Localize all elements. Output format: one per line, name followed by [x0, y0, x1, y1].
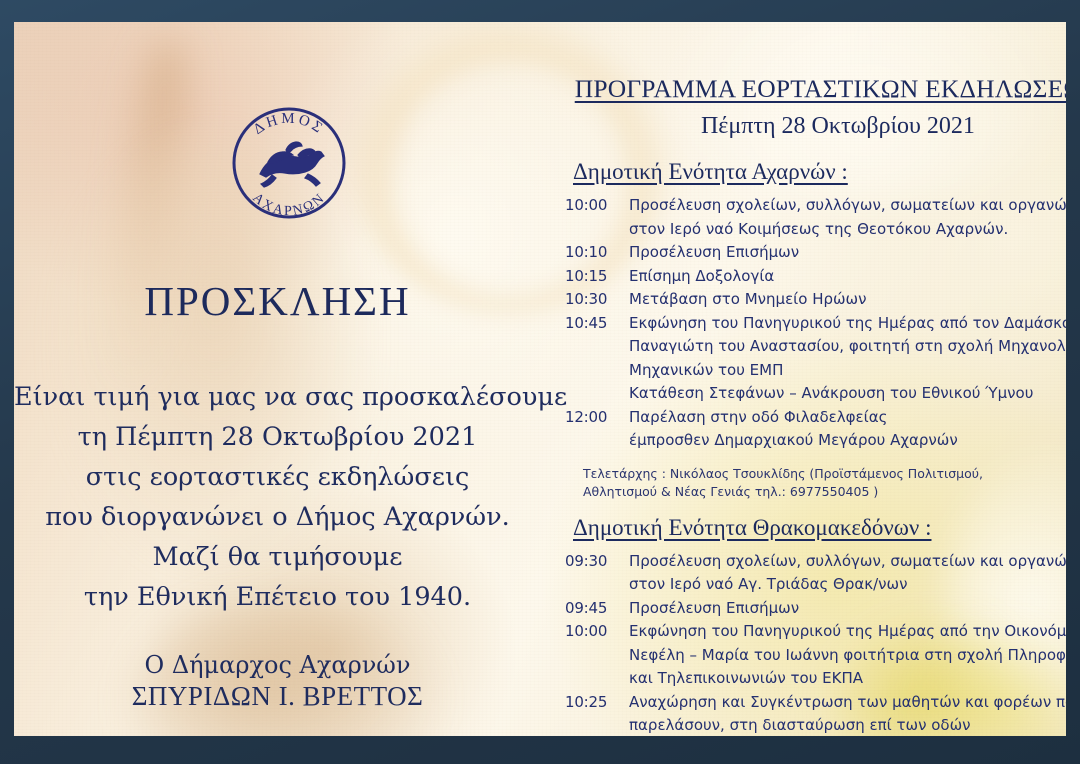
note-line: Τελετάρχης : Νικόλαος Τσουκλίδης (Προϊστ…: [583, 465, 1066, 483]
schedule-time: 09:30: [565, 550, 619, 574]
schedule-row: 10:15 Επίσημη Δοξολογία: [565, 265, 1066, 289]
schedule-description: Εκφώνηση του Πανηγυρικού της Ημέρας από …: [619, 620, 1066, 691]
program-section-acharnes: Δημοτική Ενότητα Αχαρνών : 10:00 Προσέλε…: [559, 140, 1066, 501]
section-heading: Δημοτική Ενότητα Αχαρνών :: [573, 159, 848, 185]
signature-role: Ο Δήμαρχος Αχαρνών: [14, 650, 541, 680]
section-heading: Δημοτική Ενότητα Θρακομακεδόνων :: [573, 515, 931, 541]
schedule-time: 10:00: [565, 620, 619, 644]
schedule-row: 10:45 Εκφώνηση του Πανηγυρικού της Ημέρα…: [565, 312, 1066, 406]
schedule-line: Μηχανικών του ΕΜΠ: [629, 359, 1066, 383]
schedule-line: Προσέλευση Επισήμων: [629, 597, 1066, 621]
signature-block: Ο Δήμαρχος Αχαρνών ΣΠΥΡΙΔΩΝ Ι. ΒΡΕΤΤΟΣ: [14, 650, 541, 712]
schedule-line: Νεφέλη – Μαρία του Ιωάννη φοιτήτρια στη …: [629, 644, 1066, 668]
schedule-line: Μετάβαση στο Μνημείο Ηρώων: [629, 288, 1066, 312]
schedule-description: Προσέλευση Επισήμων: [619, 597, 1066, 621]
schedule-row: 09:30 Προσέλευση σχολείων, συλλόγων, σωμ…: [565, 550, 1066, 597]
schedule-line: Προσέλευση σχολείων, συλλόγων, σωματείων…: [629, 194, 1066, 218]
schedule-description: Αναχώρηση και Συγκέντρωση των μαθητών κα…: [619, 691, 1066, 737]
schedule-description: Επίσημη Δοξολογία: [619, 265, 1066, 289]
municipal-seal-icon: ΔΗΜΟΣ ΑΧΑΡΝΩΝ: [216, 100, 362, 226]
program-title: ΠΡΟΓΡΑΜΜΑ ΕΟΡΤΑΣΤΙΚΩΝ ΕΚΔΗΛΩΣΕΩΝ: [559, 74, 1066, 104]
schedule-row: 10:25 Αναχώρηση και Συγκέντρωση των μαθη…: [565, 691, 1066, 737]
invitation-body-line: τη Πέμπτη 28 Οκτωβρίου 2021: [14, 417, 541, 457]
schedule-row: 10:30 Μετάβαση στο Μνημείο Ηρώων: [565, 288, 1066, 312]
schedule-line: Προσέλευση Επισήμων: [629, 241, 1066, 265]
document-content: ΔΗΜΟΣ ΑΧΑΡΝΩΝ: [14, 22, 1066, 736]
schedule-line: και Τηλεπικοινωνιών του ΕΚΠΑ: [629, 667, 1066, 691]
schedule-description: Μετάβαση στο Μνημείο Ηρώων: [619, 288, 1066, 312]
schedule-row: 10:00 Προσέλευση σχολείων, συλλόγων, σωμ…: [565, 194, 1066, 241]
schedule-time: 10:10: [565, 241, 619, 265]
schedule-line: έμπροσθεν Δημαρχιακού Μεγάρου Αχαρνών: [629, 429, 1066, 453]
schedule-row: 10:10 Προσέλευση Επισήμων: [565, 241, 1066, 265]
program-panel: ΠΡΟΓΡΑΜΜΑ ΕΟΡΤΑΣΤΙΚΩΝ ΕΚΔΗΛΩΣΕΩΝ Πέμπτη …: [541, 22, 1066, 736]
schedule-row: 09:45 Προσέλευση Επισήμων: [565, 597, 1066, 621]
schedule-description: Προσέλευση Επισήμων: [619, 241, 1066, 265]
schedule-time: 12:00: [565, 406, 619, 430]
note-line: Αθλητισμού & Νέας Γενιάς τηλ.: 697755040…: [583, 483, 1066, 501]
signature-name: ΣΠΥΡΙΔΩΝ Ι. ΒΡΕΤΤΟΣ: [14, 680, 541, 712]
svg-text:ΑΧΑΡΝΩΝ: ΑΧΑΡΝΩΝ: [249, 190, 328, 219]
schedule-row: 10:00 Εκφώνηση του Πανηγυρικού της Ημέρα…: [565, 620, 1066, 691]
schedule-time: 10:45: [565, 312, 619, 336]
invitation-body-line: Μαζί θα τιμήσουμε: [14, 537, 541, 577]
schedule-line: Παρέλαση στην οδό Φιλαδελφείας: [629, 406, 1066, 430]
schedule-line: στον Ιερό ναό Αγ. Τριάδας Θρακ/νων: [629, 573, 1066, 597]
schedule-description: Παρέλαση στην οδό Φιλαδελφείας έμπροσθεν…: [619, 406, 1066, 453]
schedule-line: Επίσημη Δοξολογία: [629, 265, 1066, 289]
schedule-description: Προσέλευση σχολείων, συλλόγων, σωματείων…: [619, 550, 1066, 597]
schedule-description: Προσέλευση σχολείων, συλλόγων, σωματείων…: [619, 194, 1066, 241]
schedule-line: στον Ιερό ναό Κοιμήσεως της Θεοτόκου Αχα…: [629, 218, 1066, 242]
invitation-heading: ΠΡΟΣΚΛΗΣΗ: [14, 277, 541, 325]
program-date: Πέμπτη 28 Οκτωβρίου 2021: [559, 113, 1066, 140]
schedule-time: 10:15: [565, 265, 619, 289]
invitation-body-line: στις εορταστικές εκδηλώσεις: [14, 457, 541, 497]
ceremony-master-note: Τελετάρχης : Νικόλαος Τσουκλίδης (Προϊστ…: [583, 465, 1066, 501]
invitation-card: ΔΗΜΟΣ ΑΧΑΡΝΩΝ: [0, 0, 1080, 764]
schedule-time: 10:00: [565, 194, 619, 218]
schedule-description: Εκφώνηση του Πανηγυρικού της Ημέρας από …: [619, 312, 1066, 406]
invitation-panel: ΔΗΜΟΣ ΑΧΑΡΝΩΝ: [14, 22, 541, 736]
schedule-list: 10:00 Προσέλευση σχολείων, συλλόγων, σωμ…: [565, 194, 1066, 453]
program-section-thrakomakedones: Δημοτική Ενότητα Θρακομακεδόνων : 09:30 …: [559, 501, 1066, 737]
schedule-line: Εκφώνηση του Πανηγυρικού της Ημέρας από …: [629, 620, 1066, 644]
schedule-line: Παναγιώτη του Αναστασίου, φοιτητή στη σχ…: [629, 335, 1066, 359]
schedule-line: Προσέλευση σχολείων, συλλόγων, σωματείων…: [629, 550, 1066, 574]
schedule-time: 09:45: [565, 597, 619, 621]
schedule-time: 10:30: [565, 288, 619, 312]
invitation-body-line: που διοργανώνει ο Δήμος Αχαρνών.: [14, 497, 541, 537]
invitation-body-line: Είναι τιμή για μας να σας προσκαλέσουμε: [14, 377, 541, 417]
schedule-row: 12:00 Παρέλαση στην οδό Φιλαδελφείας έμπ…: [565, 406, 1066, 453]
schedule-line: Εκφώνηση του Πανηγυρικού της Ημέρας από …: [629, 312, 1066, 336]
invitation-body-text: Είναι τιμή για μας να σας προσκαλέσουμε …: [14, 377, 541, 617]
schedule-line: Κατάθεση Στεφάνων – Ανάκρουση του Εθνικο…: [629, 382, 1066, 406]
schedule-line: παρελάσουν, στη διασταύρωση επί των οδών: [629, 714, 1066, 736]
schedule-line: Αναχώρηση και Συγκέντρωση των μαθητών κα…: [629, 691, 1066, 715]
schedule-time: 10:25: [565, 691, 619, 715]
parchment-background: ΔΗΜΟΣ ΑΧΑΡΝΩΝ: [14, 22, 1066, 736]
invitation-body-line: την Εθνική Επέτειο του 1940.: [14, 577, 541, 617]
schedule-list: 09:30 Προσέλευση σχολείων, συλλόγων, σωμ…: [565, 550, 1066, 737]
